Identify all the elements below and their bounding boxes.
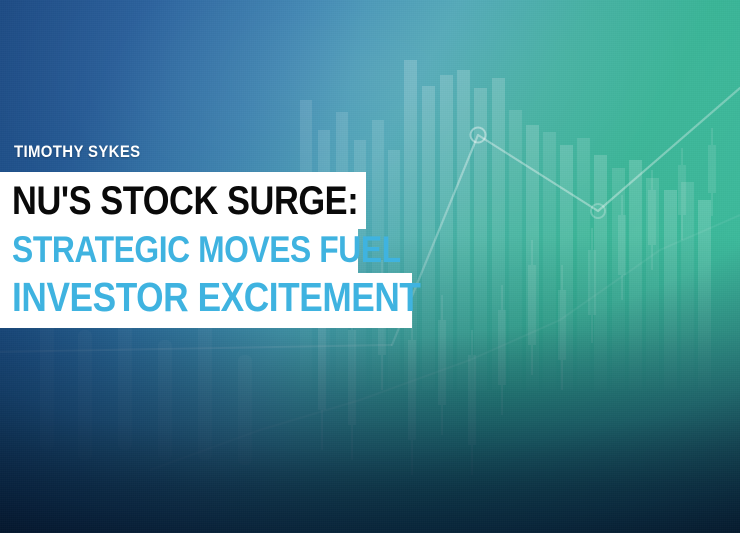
headline-text-line-2: STRATEGIC MOVES FUEL (0, 231, 401, 268)
headline-banner-line-3: INVESTOR EXCITEMENT (0, 273, 412, 328)
headline-text-line-1: NU'S STOCK SURGE: (0, 181, 358, 221)
headline-text-line-3: INVESTOR EXCITEMENT (0, 277, 421, 318)
headline-block: NU'S STOCK SURGE: STRATEGIC MOVES FUEL I… (0, 172, 412, 328)
headline-banner-line-1: NU'S STOCK SURGE: (0, 172, 366, 229)
brand-wordmark: TIMOTHY SYKES (14, 143, 141, 160)
social-graphic-poster: TIMOTHY SYKES NU'S STOCK SURGE: STRATEGI… (0, 0, 740, 533)
headline-banner-line-2: STRATEGIC MOVES FUEL (0, 229, 358, 273)
